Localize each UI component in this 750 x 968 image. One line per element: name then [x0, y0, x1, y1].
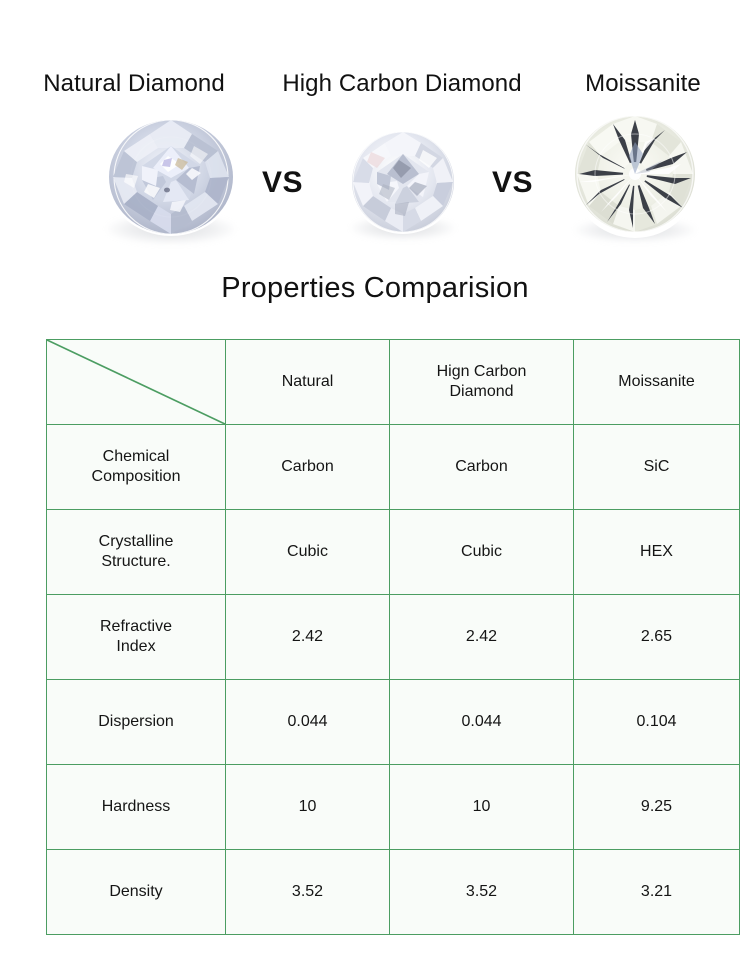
cell-high-carbon-diamond: Cubic — [390, 510, 574, 595]
cell-natural: Carbon — [226, 425, 390, 510]
table-header-moissanite: Moissanite — [574, 340, 740, 425]
table-header-high-carbon-line2: Diamond — [394, 382, 569, 402]
row-label-line2: Index — [51, 637, 221, 657]
cell-natural: Cubic — [226, 510, 390, 595]
row-label-chemical-composition: Chemical Composition — [47, 425, 226, 510]
cell-moissanite: 3.21 — [574, 850, 740, 935]
vs-separator-2: VS — [492, 166, 533, 200]
gem-title-high-carbon-diamond: High Carbon Diamond — [268, 70, 536, 98]
properties-comparison-table: Natural Hign Carbon Diamond Moissanite C… — [46, 339, 740, 935]
row-label-density: Density — [47, 850, 226, 935]
table-header-high-carbon-diamond: Hign Carbon Diamond — [390, 340, 574, 425]
table-row: Chemical Composition Carbon Carbon SiC — [47, 425, 740, 510]
table-row: Crystalline Structure. Cubic Cubic HEX — [47, 510, 740, 595]
cell-high-carbon-diamond: Carbon — [390, 425, 574, 510]
table-row: Density 3.52 3.52 3.21 — [47, 850, 740, 935]
table-header-natural: Natural — [226, 340, 390, 425]
moissanite-gem — [570, 112, 700, 242]
cell-moissanite: HEX — [574, 510, 740, 595]
high-carbon-diamond-gem — [348, 130, 458, 238]
cell-natural: 10 — [226, 765, 390, 850]
natural-diamond-image — [106, 118, 236, 236]
row-label-line1: Refractive — [51, 617, 221, 637]
table-header-row: Natural Hign Carbon Diamond Moissanite — [47, 340, 740, 425]
gem-comparison-header-row: Natural Diamond High Carbon Diamond Mois… — [0, 62, 750, 106]
table-row: Refractive Index 2.42 2.42 2.65 — [47, 595, 740, 680]
gem-image-row: VS — [0, 108, 750, 248]
cell-natural: 3.52 — [226, 850, 390, 935]
cell-moissanite: 9.25 — [574, 765, 740, 850]
gem-title-natural-diamond: Natural Diamond — [0, 70, 268, 98]
row-label-crystalline-structure: Crystalline Structure. — [47, 510, 226, 595]
cell-moissanite: 0.104 — [574, 680, 740, 765]
row-label-line2: Composition — [51, 467, 221, 487]
cell-high-carbon-diamond: 10 — [390, 765, 574, 850]
cell-high-carbon-diamond: 3.52 — [390, 850, 574, 935]
row-label-line1: Crystalline — [51, 532, 221, 552]
table-row: Hardness 10 10 9.25 — [47, 765, 740, 850]
row-label-line2: Structure. — [51, 552, 221, 572]
cell-moissanite: 2.65 — [574, 595, 740, 680]
cell-natural: 0.044 — [226, 680, 390, 765]
cell-high-carbon-diamond: 2.42 — [390, 595, 574, 680]
row-label-hardness: Hardness — [47, 765, 226, 850]
row-label-refractive-index: Refractive Index — [47, 595, 226, 680]
table-header-high-carbon-line1: Hign Carbon — [394, 362, 569, 382]
page-title: Properties Comparision — [0, 272, 750, 305]
row-label-dispersion: Dispersion — [47, 680, 226, 765]
cell-high-carbon-diamond: 0.044 — [390, 680, 574, 765]
table-row: Dispersion 0.044 0.044 0.104 — [47, 680, 740, 765]
row-label-line1: Dispersion — [51, 712, 221, 732]
table-corner-cell — [47, 340, 226, 425]
cell-moissanite: SiC — [574, 425, 740, 510]
high-carbon-diamond-image — [349, 130, 457, 234]
diagonal-divider-icon — [47, 340, 225, 424]
row-label-line1: Hardness — [51, 797, 221, 817]
cell-natural: 2.42 — [226, 595, 390, 680]
moissanite-image — [571, 112, 699, 238]
gem-title-moissanite: Moissanite — [536, 70, 750, 98]
natural-diamond-gem — [104, 118, 238, 240]
vs-separator-1: VS — [262, 166, 303, 200]
row-label-line1: Density — [51, 882, 221, 902]
row-label-line1: Chemical — [51, 447, 221, 467]
